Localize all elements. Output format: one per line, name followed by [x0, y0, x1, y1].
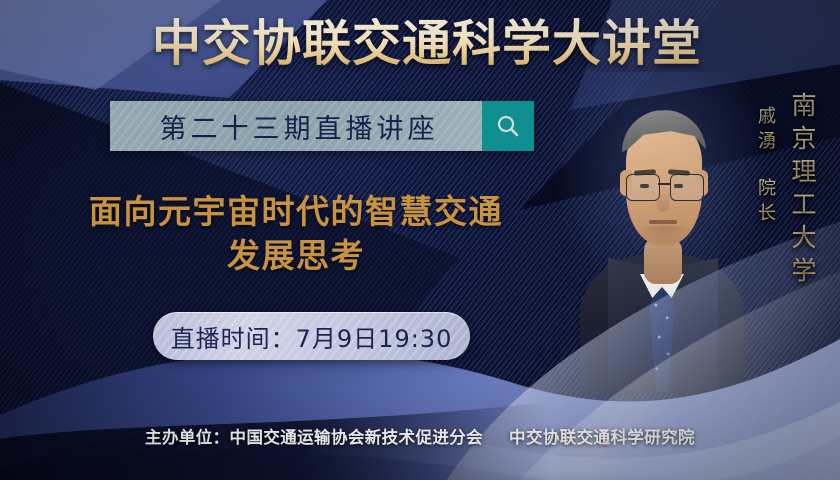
footer-org-2: 中交协联交通科学研究院	[509, 428, 695, 447]
page-title: 中交协联交通科学大讲堂	[0, 18, 840, 71]
search-icon	[495, 113, 521, 139]
speaker-role: 院长	[752, 178, 778, 228]
portrait-chin-shadow	[634, 226, 694, 248]
portrait-lens-right	[670, 174, 704, 201]
footer-organizers: 主办单位：中国交通运输协会新技术促进分会中交协联交通科学研究院	[0, 424, 840, 448]
speaker-organization: 南京理工大学	[784, 92, 820, 290]
broadcast-time-label: 直播时间：7月9日19:30	[171, 319, 453, 354]
speaker-portrait	[578, 86, 746, 386]
footer-prefix: 主办单位：	[145, 428, 230, 447]
live-stream-poster: 中交协联交通科学大讲堂 第二十三期直播讲座 面向元宇宙时代的智慧交通 发展思考 …	[0, 0, 840, 480]
portrait-glasses-bridge	[658, 183, 670, 185]
session-bar: 第二十三期直播讲座	[110, 101, 534, 151]
speaker-name: 戚湧	[752, 106, 778, 156]
session-bar-fill: 第二十三期直播讲座	[110, 101, 482, 151]
lecture-topic-line2: 发展思考	[36, 234, 556, 278]
lecture-topic: 面向元宇宙时代的智慧交通 发展思考	[36, 190, 556, 277]
session-label: 第二十三期直播讲座	[154, 107, 439, 146]
lecture-topic-line1: 面向元宇宙时代的智慧交通	[36, 190, 556, 234]
portrait-lens-left	[626, 174, 660, 201]
footer-org-1: 中国交通运输协会新技术促进分会	[230, 428, 484, 447]
broadcast-time-badge: 直播时间：7月9日19:30	[153, 312, 470, 360]
portrait-nose	[657, 190, 669, 212]
portrait-mouth	[649, 220, 677, 224]
search-button[interactable]	[482, 101, 534, 151]
